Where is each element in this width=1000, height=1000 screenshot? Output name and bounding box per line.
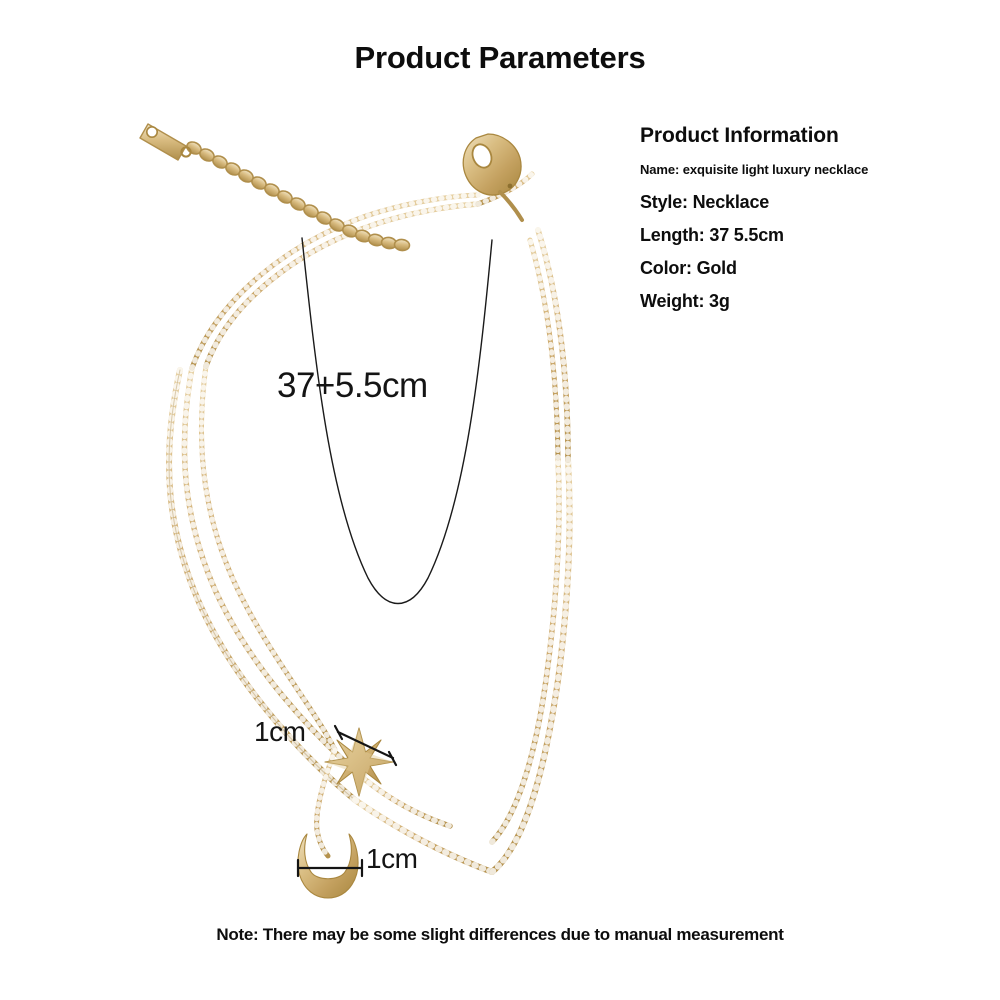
top-chain-span bbox=[192, 174, 568, 460]
product-info-style: Style: Necklace bbox=[640, 192, 970, 213]
product-parameters-page: Product Parameters bbox=[0, 0, 1000, 1000]
product-information-panel: Product Information Name: exquisite ligh… bbox=[640, 124, 970, 324]
extender-chain bbox=[140, 124, 410, 251]
product-info-name: Name: exquisite light luxury necklace bbox=[640, 162, 970, 177]
chain-length-annotation: 37+5.5cm bbox=[277, 366, 428, 406]
star-size-annotation: 1cm bbox=[254, 716, 305, 748]
product-info-length: Length: 37 5.5cm bbox=[640, 225, 970, 246]
measurement-note: Note: There may be some slight differenc… bbox=[0, 925, 1000, 945]
length-measure-curve bbox=[302, 238, 492, 604]
end-tag bbox=[140, 124, 186, 160]
product-info-weight: Weight: 3g bbox=[640, 291, 970, 312]
moon-size-annotation: 1cm bbox=[366, 843, 417, 875]
page-title: Product Parameters bbox=[0, 40, 1000, 76]
product-info-color: Color: Gold bbox=[640, 258, 970, 279]
product-image bbox=[120, 100, 640, 900]
inner-chain bbox=[201, 366, 335, 856]
moon-pendant bbox=[298, 834, 358, 898]
product-information-heading: Product Information bbox=[640, 124, 970, 148]
